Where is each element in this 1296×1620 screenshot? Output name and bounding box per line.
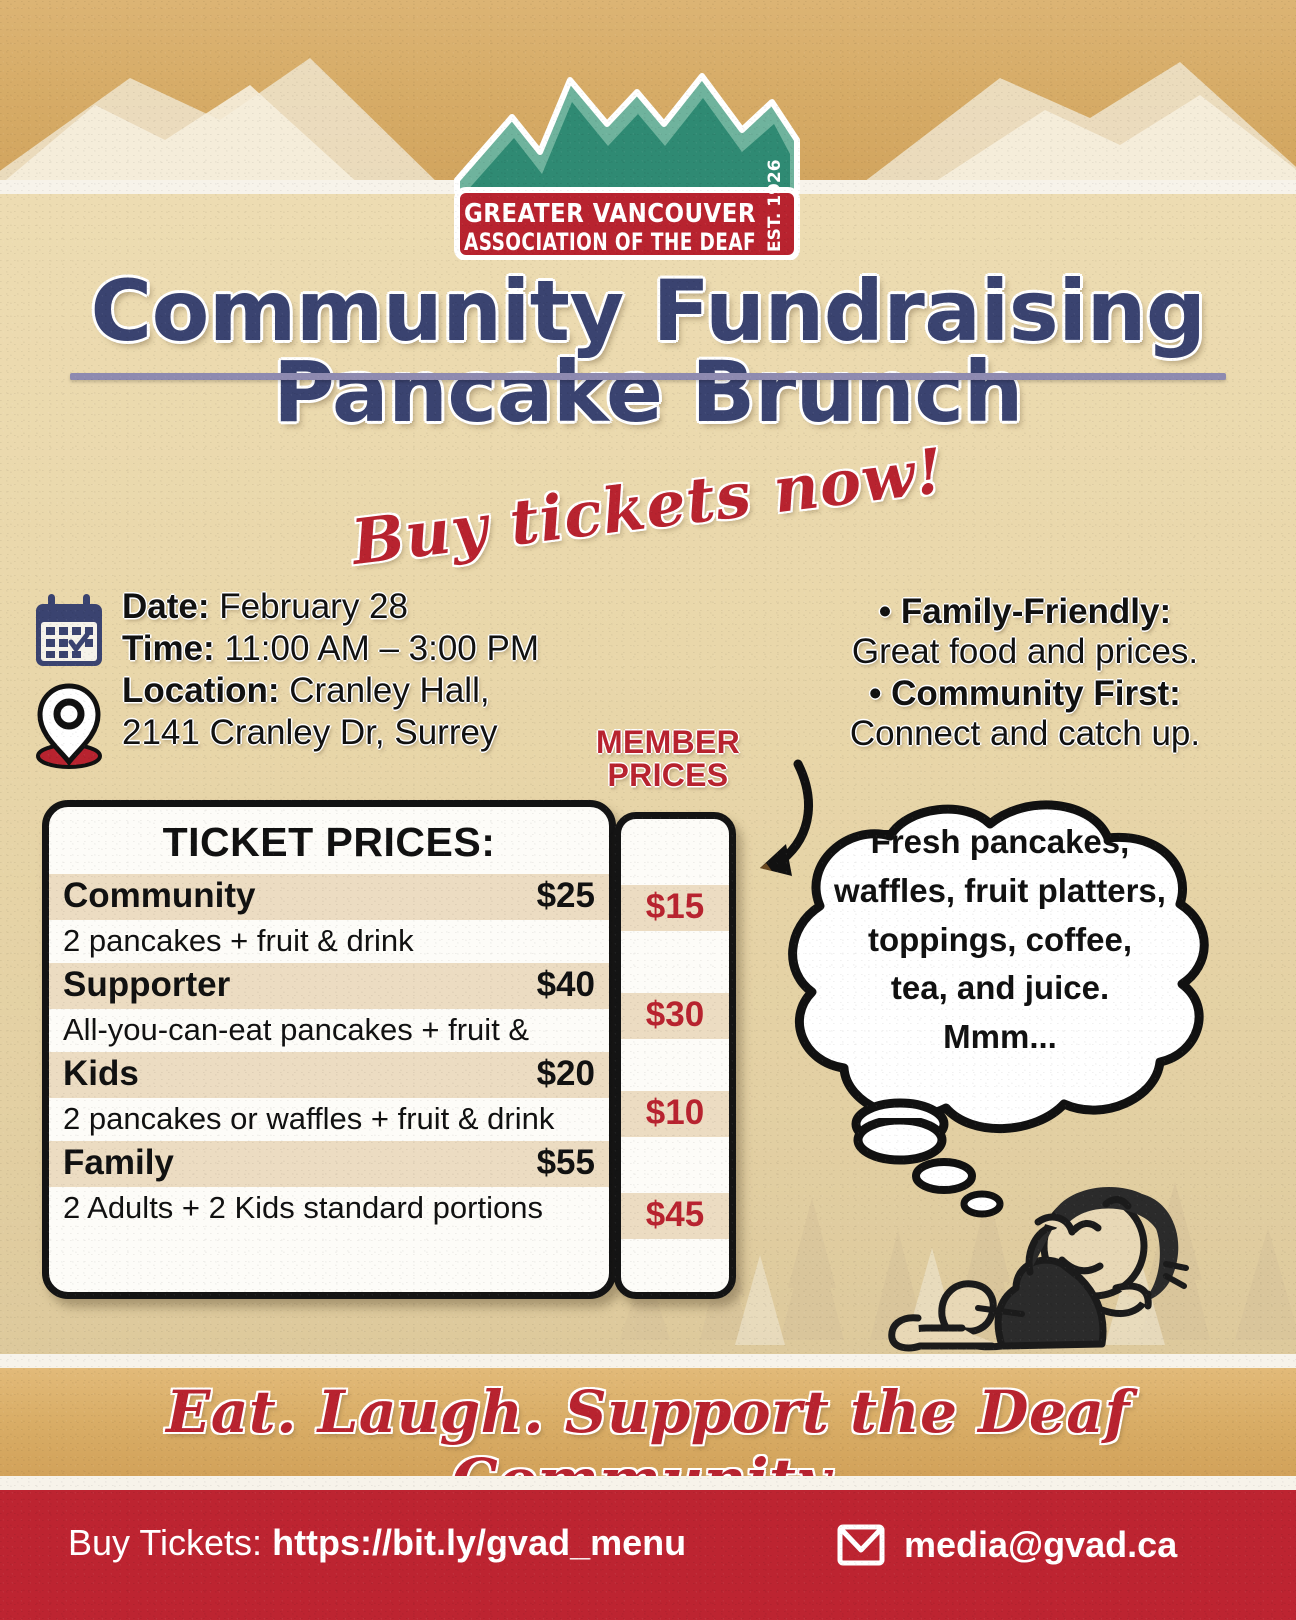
ticket-desc-3: 2 Adults + 2 Kids standard portions bbox=[49, 1187, 609, 1230]
ticket-desc-2: 2 pancakes or waffles + fruit & drink bbox=[49, 1098, 609, 1141]
ticket-name-3: Family bbox=[63, 1143, 174, 1183]
member-prices-card: $15 $30 $10 $45 bbox=[614, 812, 736, 1299]
highlights-block: • Family-Friendly: Great food and prices… bbox=[790, 592, 1260, 756]
ticket-price-2: $20 bbox=[537, 1054, 595, 1094]
highlight-1-desc: Connect and catch up. bbox=[790, 714, 1260, 754]
event-date-value: February 28 bbox=[219, 587, 408, 626]
event-time-line: Time: 11:00 AM – 3:00 PM bbox=[122, 628, 630, 670]
buy-tickets-callout: Buy tickets now! bbox=[0, 470, 1296, 543]
member-price-1: $30 bbox=[621, 993, 729, 1039]
gvad-logo: GREATER VANCOUVER ASSOCIATION OF THE DEA… bbox=[452, 62, 802, 260]
map-pin-icon bbox=[38, 686, 100, 767]
envelope-icon bbox=[836, 1522, 886, 1568]
ticket-desc-1: All-you-can-eat pancakes + fruit & bbox=[49, 1009, 609, 1052]
footer-email-address[interactable]: media@gvad.ca bbox=[904, 1524, 1177, 1566]
bubble-line-4: tea, and juice. bbox=[800, 964, 1200, 1013]
poster-title: Community Fundraising Pancake Brunch bbox=[0, 272, 1296, 432]
ticket-row-supporter: Supporter $40 bbox=[49, 963, 609, 1009]
ticket-price-0: $25 bbox=[537, 876, 595, 916]
footer-buy-tickets[interactable]: Buy Tickets: https://bit.ly/gvad_menu bbox=[68, 1522, 686, 1564]
event-location-value: Cranley Hall, bbox=[289, 671, 489, 710]
event-details-icons bbox=[30, 586, 122, 775]
title-line-2: Pancake Brunch bbox=[0, 353, 1296, 432]
footer-buy-tickets-label: Buy Tickets: bbox=[68, 1522, 262, 1563]
event-details-block: Date: February 28 Time: 11:00 AM – 3:00 … bbox=[30, 586, 630, 775]
highlight-1-title: • Community First: bbox=[790, 674, 1260, 714]
logo-established-year: EST. 1926 bbox=[765, 159, 785, 252]
title-line-1: Community Fundraising bbox=[0, 272, 1296, 351]
event-date-line: Date: February 28 bbox=[122, 586, 630, 628]
ticket-row-kids: Kids $20 bbox=[49, 1052, 609, 1098]
ticket-price-3: $55 bbox=[537, 1143, 595, 1183]
logo-line1: GREATER VANCOUVER bbox=[464, 199, 756, 229]
thought-bubble-text: Fresh pancakes, waffles, fruit platters,… bbox=[800, 818, 1200, 1062]
member-prices-label-line1: MEMBER bbox=[578, 726, 758, 759]
bubble-line-2: waffles, fruit platters, bbox=[800, 867, 1200, 916]
bubble-line-3: toppings, coffee, bbox=[800, 916, 1200, 965]
event-time-label: Time: bbox=[122, 629, 215, 668]
sleeping-person-illustration bbox=[866, 1168, 1196, 1358]
bubble-line-5: Mmm... bbox=[800, 1013, 1200, 1062]
ticket-desc-0: 2 pancakes + fruit & drink bbox=[49, 920, 609, 963]
footer-divider-strip bbox=[0, 1476, 1296, 1490]
poster-canvas: GREATER VANCOUVER ASSOCIATION OF THE DEA… bbox=[0, 0, 1296, 1620]
highlight-0-desc: Great food and prices. bbox=[790, 632, 1260, 672]
event-address-line: 2141 Cranley Dr, Surrey bbox=[122, 712, 630, 754]
title-underline-rule bbox=[70, 373, 1226, 380]
footer-buy-tickets-url[interactable]: https://bit.ly/gvad_menu bbox=[272, 1522, 686, 1563]
ticket-name-1: Supporter bbox=[63, 965, 230, 1005]
event-location-line: Location: Cranley Hall, bbox=[122, 670, 630, 712]
ticket-prices-card: TICKET PRICES: Community $25 2 pancakes … bbox=[42, 800, 616, 1299]
member-price-2: $10 bbox=[621, 1091, 729, 1137]
event-location-label: Location: bbox=[122, 671, 279, 710]
ticket-row-community: Community $25 bbox=[49, 874, 609, 920]
bubble-line-1: Fresh pancakes, bbox=[800, 818, 1200, 867]
event-date-label: Date: bbox=[122, 587, 210, 626]
event-time-value: 11:00 AM – 3:00 PM bbox=[224, 629, 539, 668]
ticket-name-0: Community bbox=[63, 876, 256, 916]
member-price-3: $45 bbox=[621, 1193, 729, 1239]
ticket-name-2: Kids bbox=[63, 1054, 139, 1094]
calendar-icon bbox=[36, 594, 102, 666]
ticket-price-1: $40 bbox=[537, 965, 595, 1005]
ticket-row-family: Family $55 bbox=[49, 1141, 609, 1187]
highlight-0-title: • Family-Friendly: bbox=[790, 592, 1260, 632]
logo-line2: ASSOCIATION OF THE DEAF bbox=[464, 228, 756, 256]
lower-divider-strip bbox=[0, 1354, 1296, 1368]
ticket-prices-heading: TICKET PRICES: bbox=[49, 807, 609, 874]
footer-email-group[interactable]: media@gvad.ca bbox=[836, 1522, 1177, 1568]
member-price-0: $15 bbox=[621, 885, 729, 931]
